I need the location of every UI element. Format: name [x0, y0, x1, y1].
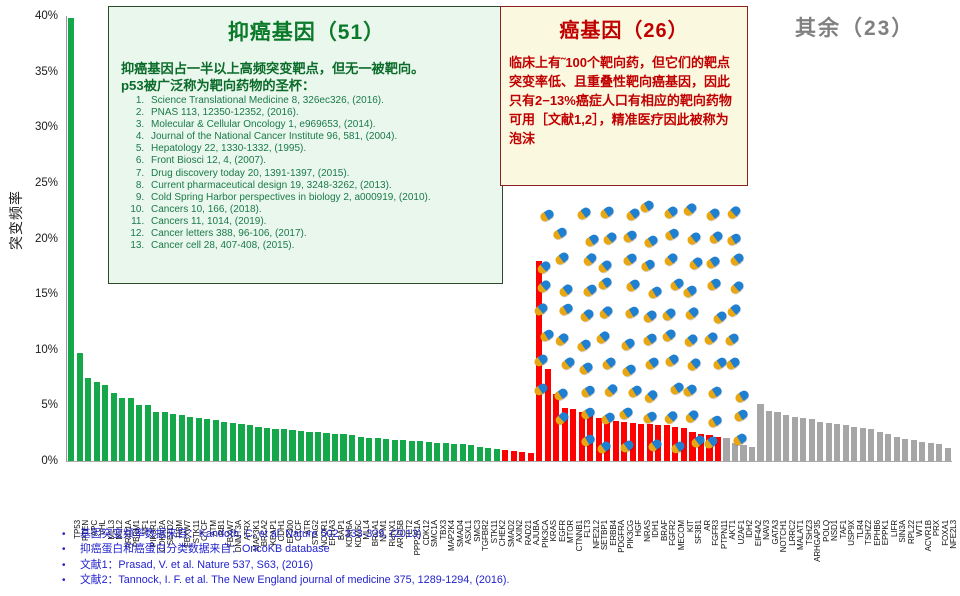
bar — [681, 428, 687, 461]
bar-column — [77, 16, 83, 461]
bar — [749, 447, 755, 461]
callout-other-title: 其余（23） — [795, 12, 914, 42]
bar — [196, 418, 202, 461]
bar — [323, 433, 329, 461]
callout-tsg-line2-bold: 靶向药物的圣杯： — [210, 78, 316, 93]
bar — [349, 435, 355, 461]
bar — [936, 444, 942, 461]
bar — [102, 385, 108, 461]
bar — [468, 445, 474, 461]
bar-column — [928, 16, 934, 461]
bar — [400, 440, 406, 461]
bar — [451, 444, 457, 461]
y-axis-tick-label: 25% — [35, 177, 58, 189]
bar-column — [885, 16, 891, 461]
bullet-icon: • — [62, 542, 80, 557]
bar — [945, 448, 951, 461]
bar — [264, 428, 270, 461]
bar — [383, 439, 389, 461]
bar — [494, 449, 500, 461]
bar — [502, 450, 508, 461]
y-axis-tick-label: 0% — [41, 455, 58, 467]
bar — [536, 261, 542, 461]
bar — [128, 398, 134, 461]
callout-tsg-line2: p53被广泛称为靶向药物的圣杯： — [121, 77, 492, 94]
bar — [740, 445, 746, 461]
bar — [204, 419, 210, 461]
y-axis-tick-label: 10% — [35, 344, 58, 356]
bar — [528, 453, 534, 461]
bar — [911, 440, 917, 461]
reference-item: PNAS 113, 12350-12352, (2016). — [147, 107, 492, 119]
bar-column — [868, 16, 874, 461]
bar — [655, 425, 661, 461]
callout-onco-title: 癌基因（26） — [509, 14, 739, 43]
bar — [77, 353, 83, 461]
callout-tsg-line1: 抑癌基因占一半以上高频突变靶点，但无一被靶向。 — [121, 60, 492, 77]
bar — [894, 437, 900, 461]
callout-tumor-suppressor: 抑癌基因（51） 抑癌基因占一半以上高频突变靶点，但无一被靶向。 p53被广泛称… — [108, 6, 503, 284]
reference-item: Cancers 11, 1014, (2019). — [147, 216, 492, 228]
bar — [885, 434, 891, 461]
y-axis-tick-label: 15% — [35, 288, 58, 300]
bar-column — [911, 16, 917, 461]
bar-column — [809, 16, 815, 461]
bullet-icon: • — [62, 573, 80, 588]
footnote-row: •文献2：Tannock, I. F. et al. The New Engla… — [62, 573, 942, 588]
bar — [94, 382, 100, 461]
bar — [255, 427, 261, 461]
callout-tsg-line2-prefix: p53被广泛称为 — [121, 78, 210, 93]
bar — [477, 447, 483, 461]
bar — [375, 438, 381, 461]
bar — [358, 437, 364, 461]
bar — [553, 394, 559, 461]
bar-column — [783, 16, 789, 461]
bar — [111, 393, 117, 461]
bar — [289, 430, 295, 461]
bar — [562, 408, 568, 461]
y-axis-tick-label: 20% — [35, 233, 58, 245]
bar — [162, 412, 168, 461]
bar — [698, 434, 704, 461]
callout-tsg-reference-list: Science Translational Medicine 8, 326ec3… — [121, 95, 492, 252]
bar — [570, 409, 576, 461]
bar-column — [945, 16, 951, 461]
bullet-icon: • — [62, 558, 80, 573]
bar — [153, 412, 159, 461]
bar-column — [749, 16, 755, 461]
bar — [366, 438, 372, 461]
reference-item: Science Translational Medicine 8, 326ec3… — [147, 95, 492, 107]
bar — [902, 439, 908, 461]
x-axis-tick-label: NFE2L3 — [950, 520, 958, 549]
bar-column — [851, 16, 857, 461]
bar — [647, 424, 653, 461]
y-axis-tick-label: 40% — [35, 10, 58, 22]
bar — [434, 443, 440, 461]
bar — [715, 437, 721, 461]
footnote-text: 抑癌蛋白和癌蛋白分类数据来自：OncoKB database — [80, 542, 330, 557]
bar — [272, 429, 278, 461]
bar — [783, 415, 789, 461]
bar-column — [800, 16, 806, 461]
bar-column — [936, 16, 942, 461]
bar — [119, 398, 125, 461]
bar — [817, 422, 823, 461]
bar — [221, 422, 227, 461]
bar — [545, 369, 551, 461]
bar — [928, 443, 934, 461]
bar — [630, 423, 636, 461]
callout-onco-body: 临床上有˜100个靶向药，但它们的靶点突变率低、且重叠性靶向癌基因，因此只有2−… — [509, 53, 739, 148]
bar-column — [902, 16, 908, 461]
callout-oncogene: 癌基因（26） 临床上有˜100个靶向药，但它们的靶点突变率低、且重叠性靶向癌基… — [500, 6, 748, 186]
bar-column — [766, 16, 772, 461]
bar-column — [877, 16, 883, 461]
y-axis-tick-label: 5% — [41, 399, 58, 411]
footnote-row: •文献1：Prasad, V. et al. Nature 537, S63, … — [62, 558, 942, 573]
bar-column — [94, 16, 100, 461]
reference-item: Cancers 10, 166, (2018). — [147, 204, 492, 216]
bar-column — [826, 16, 832, 461]
bar — [187, 417, 193, 462]
reference-item: Cold Spring Harbor perspectives in biolo… — [147, 192, 492, 204]
bar — [213, 420, 219, 461]
bar — [621, 422, 627, 461]
bar — [868, 429, 874, 461]
y-axis-ticks: 40%35%30%25%20%15%10%5%0% — [18, 0, 62, 470]
bar — [860, 428, 866, 461]
bar — [732, 443, 738, 461]
bar-column — [817, 16, 823, 461]
chart-root: 突变频率 40%35%30%25%20%15%10%5%0% TP53PTENA… — [0, 0, 960, 596]
bar — [392, 440, 398, 461]
bar — [706, 435, 712, 461]
y-axis-tick-label: 35% — [35, 66, 58, 78]
bar — [409, 441, 415, 461]
footnote-text: 基因突变频率数据来自：Kandoth, C. et al. Nature 502… — [80, 527, 421, 542]
bar — [596, 418, 602, 461]
bar — [587, 415, 593, 461]
bar-column — [68, 16, 74, 461]
bar — [417, 441, 423, 461]
bar — [723, 438, 729, 461]
bar — [579, 412, 585, 461]
footnotes: •基因突变频率数据来自：Kandoth, C. et al. Nature 50… — [62, 527, 942, 589]
reference-item: Front Biosci 12, 4, (2007). — [147, 155, 492, 167]
bar — [664, 425, 670, 461]
bar — [851, 427, 857, 461]
bar — [672, 427, 678, 461]
bar — [281, 429, 287, 461]
bar — [919, 442, 925, 461]
bar-column — [843, 16, 849, 461]
bar — [238, 424, 244, 461]
bar — [766, 411, 772, 461]
bar — [638, 424, 644, 461]
bar — [809, 419, 815, 461]
bar — [613, 421, 619, 461]
bar — [85, 378, 91, 461]
bar — [689, 432, 695, 461]
bar — [315, 432, 321, 461]
bar-column — [774, 16, 780, 461]
bar — [145, 405, 151, 461]
bar — [604, 420, 610, 461]
bar — [136, 405, 142, 461]
footnote-row: •抑癌蛋白和癌蛋白分类数据来自：OncoKB database — [62, 542, 942, 557]
bar — [460, 444, 466, 461]
bar — [774, 412, 780, 461]
x-axis-labels: TP53PTENAPCVHLMLL3MLL2ARID1APBRM1NF1PIK3… — [67, 462, 952, 524]
bar — [519, 452, 525, 461]
reference-item: Current pharmaceutical design 19, 3248-3… — [147, 180, 492, 192]
reference-item: Journal of the National Cancer Institute… — [147, 131, 492, 143]
footnote-text: 文献1：Prasad, V. et al. Nature 537, S63, (… — [80, 558, 313, 573]
bar-column — [894, 16, 900, 461]
reference-item: Cancer cell 28, 407-408, (2015). — [147, 240, 492, 252]
bar — [230, 423, 236, 461]
bar — [179, 415, 185, 461]
bar — [68, 18, 74, 461]
bar — [834, 424, 840, 461]
bar-column — [792, 16, 798, 461]
footnote-row: •基因突变频率数据来自：Kandoth, C. et al. Nature 50… — [62, 527, 942, 542]
reference-item: Molecular & Cellular Oncology 1, e969653… — [147, 119, 492, 131]
bar — [826, 423, 832, 461]
reference-item: Drug discovery today 20, 1391-1397, (201… — [147, 168, 492, 180]
bar — [340, 434, 346, 461]
bar — [757, 404, 763, 461]
bar — [485, 448, 491, 461]
bar — [247, 425, 253, 461]
footnote-text: 文献2：Tannock, I. F. et al. The New Englan… — [80, 573, 510, 588]
bar — [426, 442, 432, 461]
bar — [170, 414, 176, 461]
reference-item: Cancer letters 388, 96-106, (2017). — [147, 228, 492, 240]
bar — [800, 418, 806, 461]
bullet-icon: • — [62, 527, 80, 542]
bar — [306, 432, 312, 461]
y-axis-tick-label: 30% — [35, 121, 58, 133]
callout-tsg-title: 抑癌基因（51） — [121, 16, 492, 46]
bar-column — [860, 16, 866, 461]
bar-column — [834, 16, 840, 461]
reference-item: Hepatology 22, 1330-1332, (1995). — [147, 143, 492, 155]
bar — [877, 432, 883, 461]
bar — [298, 431, 304, 461]
bar — [332, 434, 338, 461]
bar-column — [919, 16, 925, 461]
bar-column — [757, 16, 763, 461]
bar — [843, 425, 849, 461]
bar — [511, 451, 517, 461]
bar-column — [85, 16, 91, 461]
bar — [792, 417, 798, 462]
bar — [443, 443, 449, 461]
